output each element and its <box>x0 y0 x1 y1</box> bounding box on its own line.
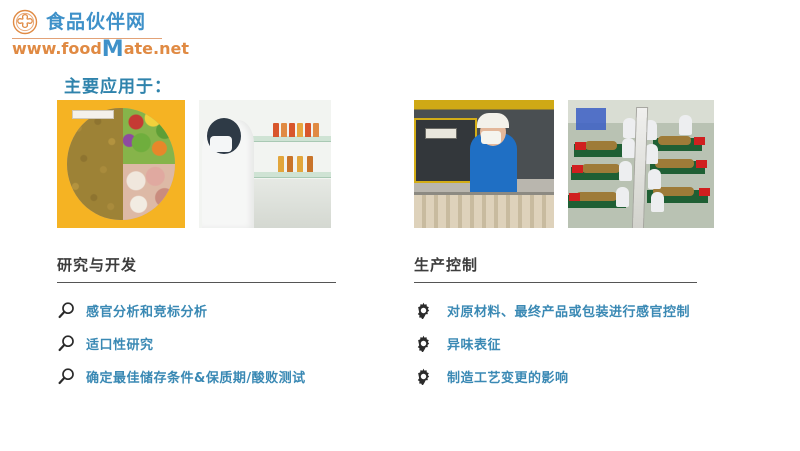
list-item[interactable]: 适口性研究 <box>57 330 357 356</box>
factory-worker-photo <box>414 100 554 228</box>
gear-icon <box>414 367 433 386</box>
list-item[interactable]: 感官分析和竞标分析 <box>57 297 357 323</box>
food-plate-photo <box>57 100 185 228</box>
section-divider-production <box>414 282 697 283</box>
list-item[interactable]: 制造工艺变更的影响 <box>414 363 714 389</box>
list-item-label: 适口性研究 <box>86 334 154 353</box>
list-item-label: 对原材料、最终产品或包装进行感官控制 <box>447 301 690 320</box>
laboratory-photo <box>199 100 331 228</box>
logo-url: www.foodMate.net <box>12 40 182 59</box>
section-divider-research <box>57 282 336 283</box>
section-heading-research: 研究与开发 <box>57 254 357 275</box>
gear-icon <box>414 334 433 353</box>
photo-row-left <box>57 100 357 228</box>
magnifier-icon <box>57 334 76 353</box>
magnifier-icon <box>57 367 76 386</box>
list-item[interactable]: 异味表征 <box>414 330 714 356</box>
list-item-label: 确定最佳储存条件&保质期/酸败测试 <box>86 367 306 386</box>
bullet-list-production: 对原材料、最终产品或包装进行感官控制 异味表征 制造工艺变更的影响 <box>414 297 714 389</box>
logo-brand-cn: 食品伙伴网 <box>46 9 146 35</box>
production-line-photo <box>568 100 714 228</box>
list-item-label: 感官分析和竞标分析 <box>86 301 208 320</box>
site-logo[interactable]: 食品伙伴网 www.foodMate.net <box>12 8 182 58</box>
list-item[interactable]: 确定最佳储存条件&保质期/酸败测试 <box>57 363 357 389</box>
column-production-control: 生产控制 对原材料、最终产品或包装进行感官控制 异味表征 <box>414 100 714 396</box>
section-heading-production: 生产控制 <box>414 254 714 275</box>
logo-url-prefix: www.food <box>12 39 102 58</box>
logo-url-m: M <box>102 37 124 62</box>
page-title: 主要应用于： <box>64 72 172 97</box>
list-item-label: 制造工艺变更的影响 <box>447 367 569 386</box>
list-item-label: 异味表征 <box>447 334 501 353</box>
bullet-list-research: 感官分析和竞标分析 适口性研究 确定最佳储存条件&保质期/酸败测试 <box>57 297 357 389</box>
column-research-development: 研究与开发 感官分析和竞标分析 适口性研究 <box>57 100 357 396</box>
list-item[interactable]: 对原材料、最终产品或包装进行感官控制 <box>414 297 714 323</box>
magnifier-icon <box>57 301 76 320</box>
photo-row-right <box>414 100 714 228</box>
gear-icon <box>414 301 433 320</box>
flower-emblem-icon <box>12 9 38 35</box>
logo-url-suffix: ate.net <box>124 39 189 58</box>
logo-row: 食品伙伴网 <box>12 8 182 36</box>
